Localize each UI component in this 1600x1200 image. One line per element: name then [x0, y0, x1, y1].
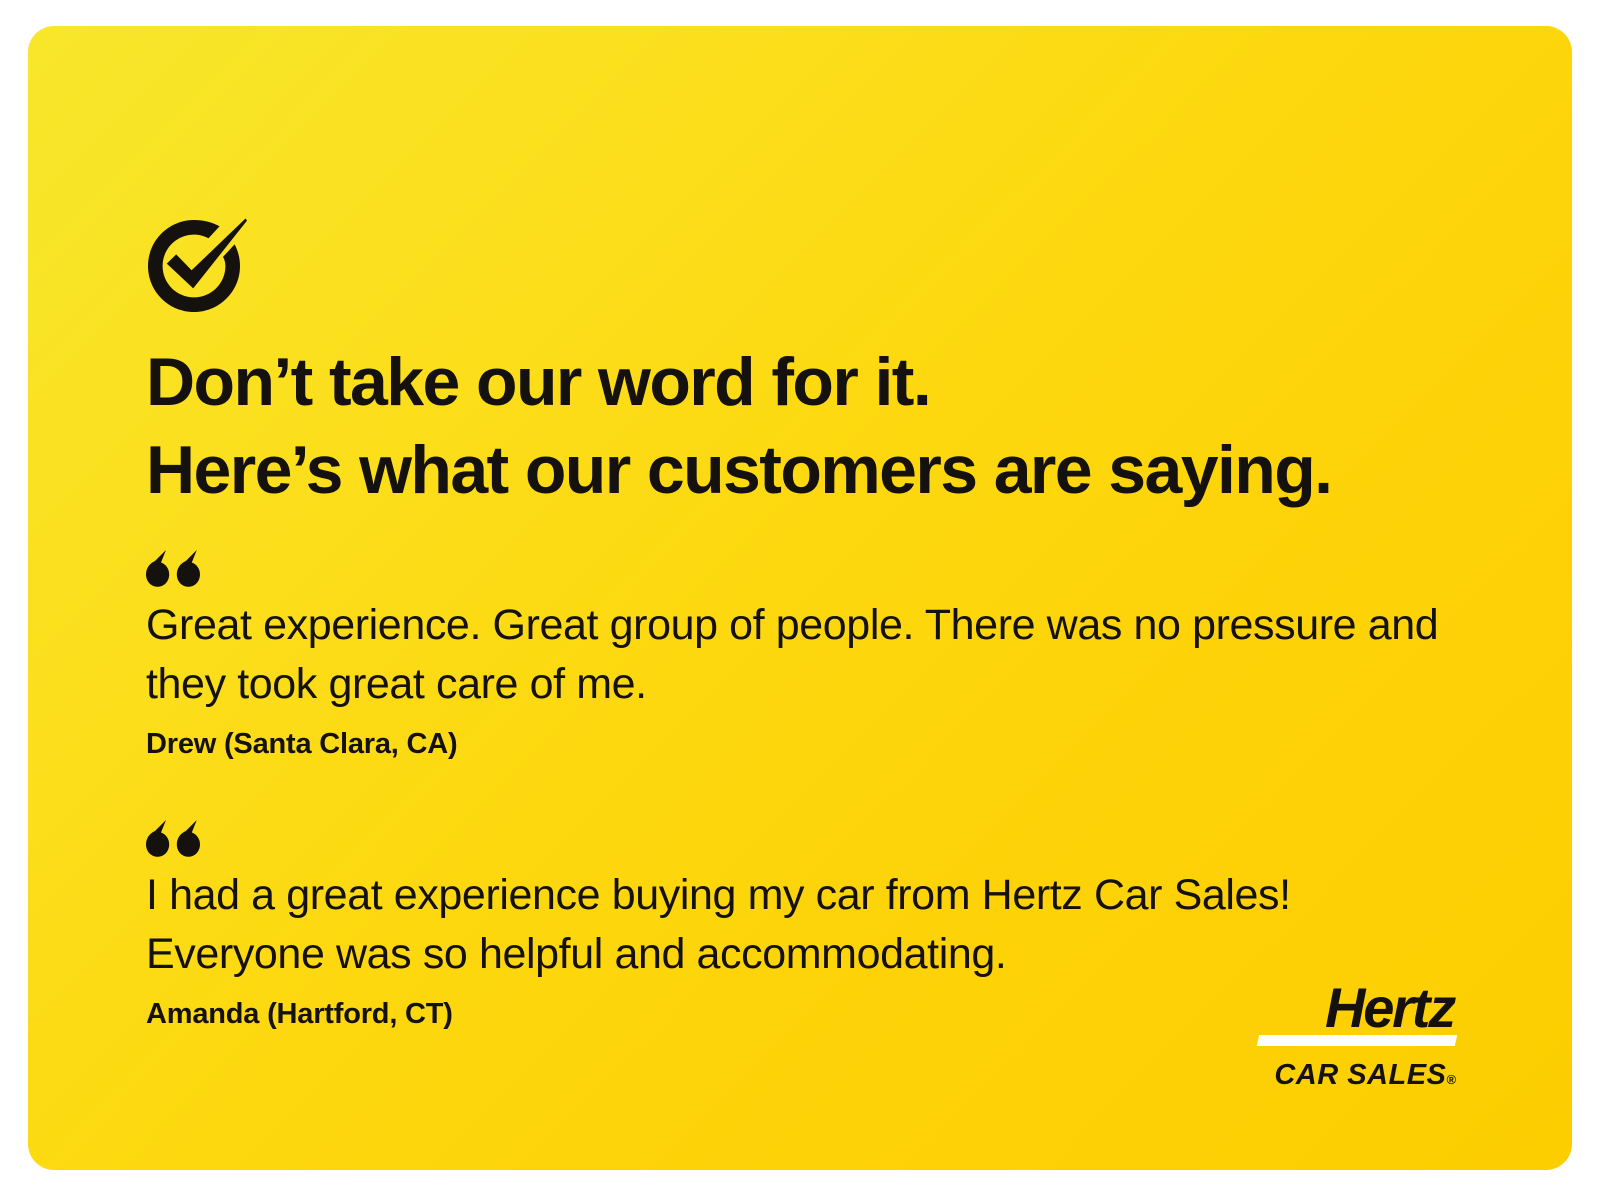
page-title: Don’t take our word for it. Here’s what …: [146, 338, 1486, 514]
logo-subtitle-text: CAR SALES: [1274, 1059, 1446, 1091]
testimonial-item: Great experience. Great group of people.…: [146, 550, 1476, 762]
check-circle-icon: [146, 218, 246, 318]
testimonial-card: Don’t take our word for it. Here’s what …: [28, 26, 1572, 1170]
headline-line-2: Here’s what our customers are saying.: [146, 426, 1486, 514]
logo-underline-bar: [1257, 1035, 1457, 1046]
testimonial-text: Great experience. Great group of people.…: [146, 596, 1466, 714]
quote-mark-icon: [146, 820, 1476, 856]
testimonial-text: I had a great experience buying my car f…: [146, 866, 1466, 984]
headline-line-1: Don’t take our word for it.: [146, 338, 1486, 426]
hertz-wordmark: Hertz: [1246, 979, 1456, 1037]
testimonial-list: Great experience. Great group of people.…: [146, 550, 1476, 1032]
registered-trademark-icon: ®: [1446, 1072, 1456, 1087]
testimonial-author: Drew (Santa Clara, CA): [146, 726, 1476, 762]
logo-subtitle: CAR SALES®: [1246, 1059, 1456, 1096]
screenshot-root: Don’t take our word for it. Here’s what …: [0, 0, 1600, 1200]
hertz-car-sales-logo: Hertz CAR SALES®: [1246, 979, 1456, 1096]
quote-mark-icon: [146, 550, 1476, 586]
